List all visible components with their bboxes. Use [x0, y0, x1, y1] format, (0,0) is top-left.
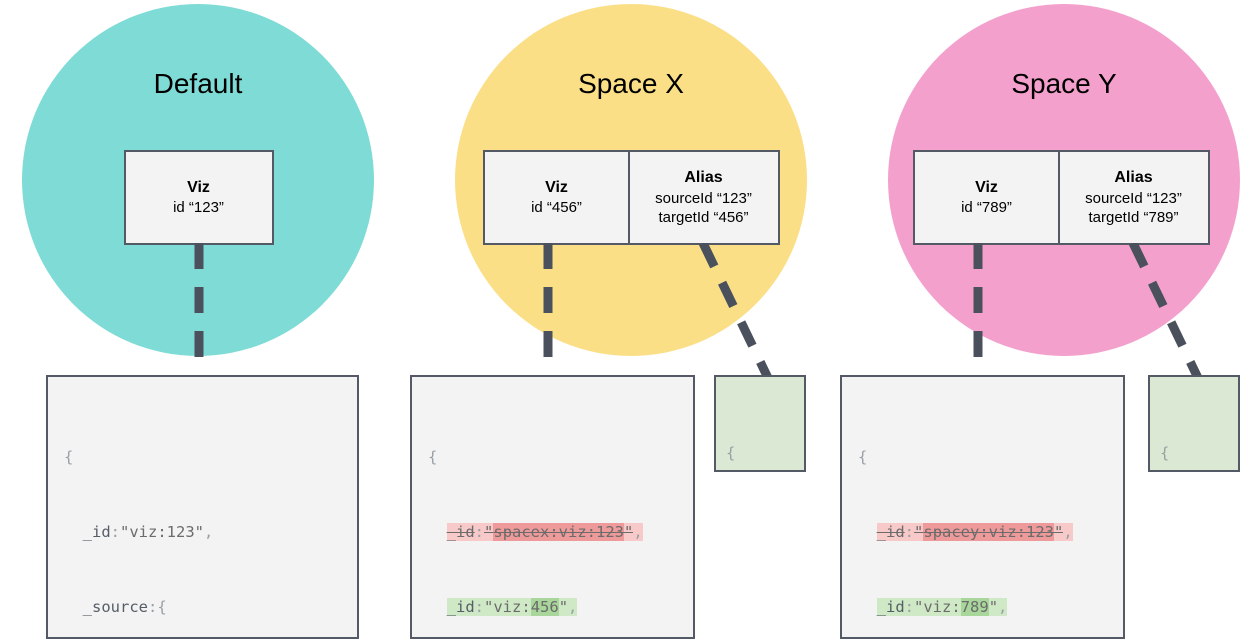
- entity-type-label: Viz: [187, 177, 210, 199]
- code-line: {: [858, 445, 1109, 470]
- document-alias-spacex: { ... }: [714, 375, 806, 472]
- entity-field-id: id “123”: [173, 198, 224, 218]
- added-id: 789: [961, 598, 989, 616]
- removed-namespace-prefix: spacex:viz:: [493, 523, 596, 541]
- entity-field-targetid: targetId “456”: [658, 208, 748, 228]
- document-spacey: { _id:"spacey:viz:123", _id:"viz:789", _…: [840, 375, 1125, 639]
- code-line-removed: _id:"spacex:viz:123",: [428, 520, 679, 545]
- entity-field-sourceid: sourceId “123”: [655, 189, 752, 209]
- code-line-added: _id:"viz:456",: [428, 595, 679, 620]
- entity-box-default: Viz id “123”: [124, 150, 274, 245]
- code-line-removed: _id:"spacey:viz:123",: [858, 520, 1109, 545]
- added-id: 456: [531, 598, 559, 616]
- entity-cell-viz-spacex: Viz id “456”: [485, 152, 628, 243]
- entity-cell-alias-spacey: Alias sourceId “123” targetId “789”: [1058, 152, 1207, 243]
- connector-spacex-alias: [690, 243, 780, 378]
- entity-cell-viz-default: Viz id “123”: [126, 152, 271, 243]
- document-default: { _id:"viz:123", _source:{ viz:{ title:"…: [46, 375, 359, 639]
- diagram-canvas: Default Space X Space Y Viz id “123” Viz…: [0, 0, 1260, 642]
- entity-type-label: Alias: [684, 167, 722, 189]
- document-spacex: { _id:"spacex:viz:123", _id:"viz:456", _…: [410, 375, 695, 639]
- entity-field-id: id “789”: [961, 198, 1012, 218]
- entity-box-spacex: Viz id “456” Alias sourceId “123” target…: [483, 150, 780, 245]
- space-title-default: Default: [22, 68, 374, 100]
- connector-default-viz: [186, 243, 212, 378]
- code-line: {: [428, 445, 679, 470]
- code-line: _id:"viz:123",: [64, 520, 343, 545]
- entity-type-label: Viz: [545, 177, 568, 199]
- removed-key: _id: [447, 523, 475, 541]
- connector-spacey-viz: [965, 243, 991, 378]
- entity-type-label: Viz: [975, 177, 998, 199]
- entity-cell-alias-spacex: Alias sourceId “123” targetId “456”: [628, 152, 777, 243]
- entity-type-label: Alias: [1114, 167, 1152, 189]
- code-line: {: [64, 445, 343, 470]
- code-line-added: _id:"viz:789",: [858, 595, 1109, 620]
- space-title-spacex: Space X: [455, 68, 807, 100]
- code-line: {: [1160, 441, 1228, 466]
- space-title-spacey: Space Y: [888, 68, 1240, 100]
- document-alias-spacey: { ... }: [1148, 375, 1240, 472]
- entity-cell-viz-spacey: Viz id “789”: [915, 152, 1058, 243]
- connector-spacex-viz: [535, 243, 561, 378]
- code-line: {: [726, 441, 794, 466]
- added-key: _id: [447, 598, 475, 616]
- entity-field-sourceid: sourceId “123”: [1085, 189, 1182, 209]
- removed-id: 123: [1026, 523, 1054, 541]
- entity-box-spacey: Viz id “789” Alias sourceId “123” target…: [913, 150, 1210, 245]
- added-key: _id: [877, 598, 905, 616]
- entity-field-targetid: targetId “789”: [1088, 208, 1178, 228]
- removed-namespace-prefix: spacey:viz:: [923, 523, 1026, 541]
- removed-key: _id: [877, 523, 905, 541]
- entity-field-id: id “456”: [531, 198, 582, 218]
- removed-id: 123: [596, 523, 624, 541]
- connector-spacey-alias: [1120, 243, 1210, 378]
- code-line: _source:{: [64, 595, 343, 620]
